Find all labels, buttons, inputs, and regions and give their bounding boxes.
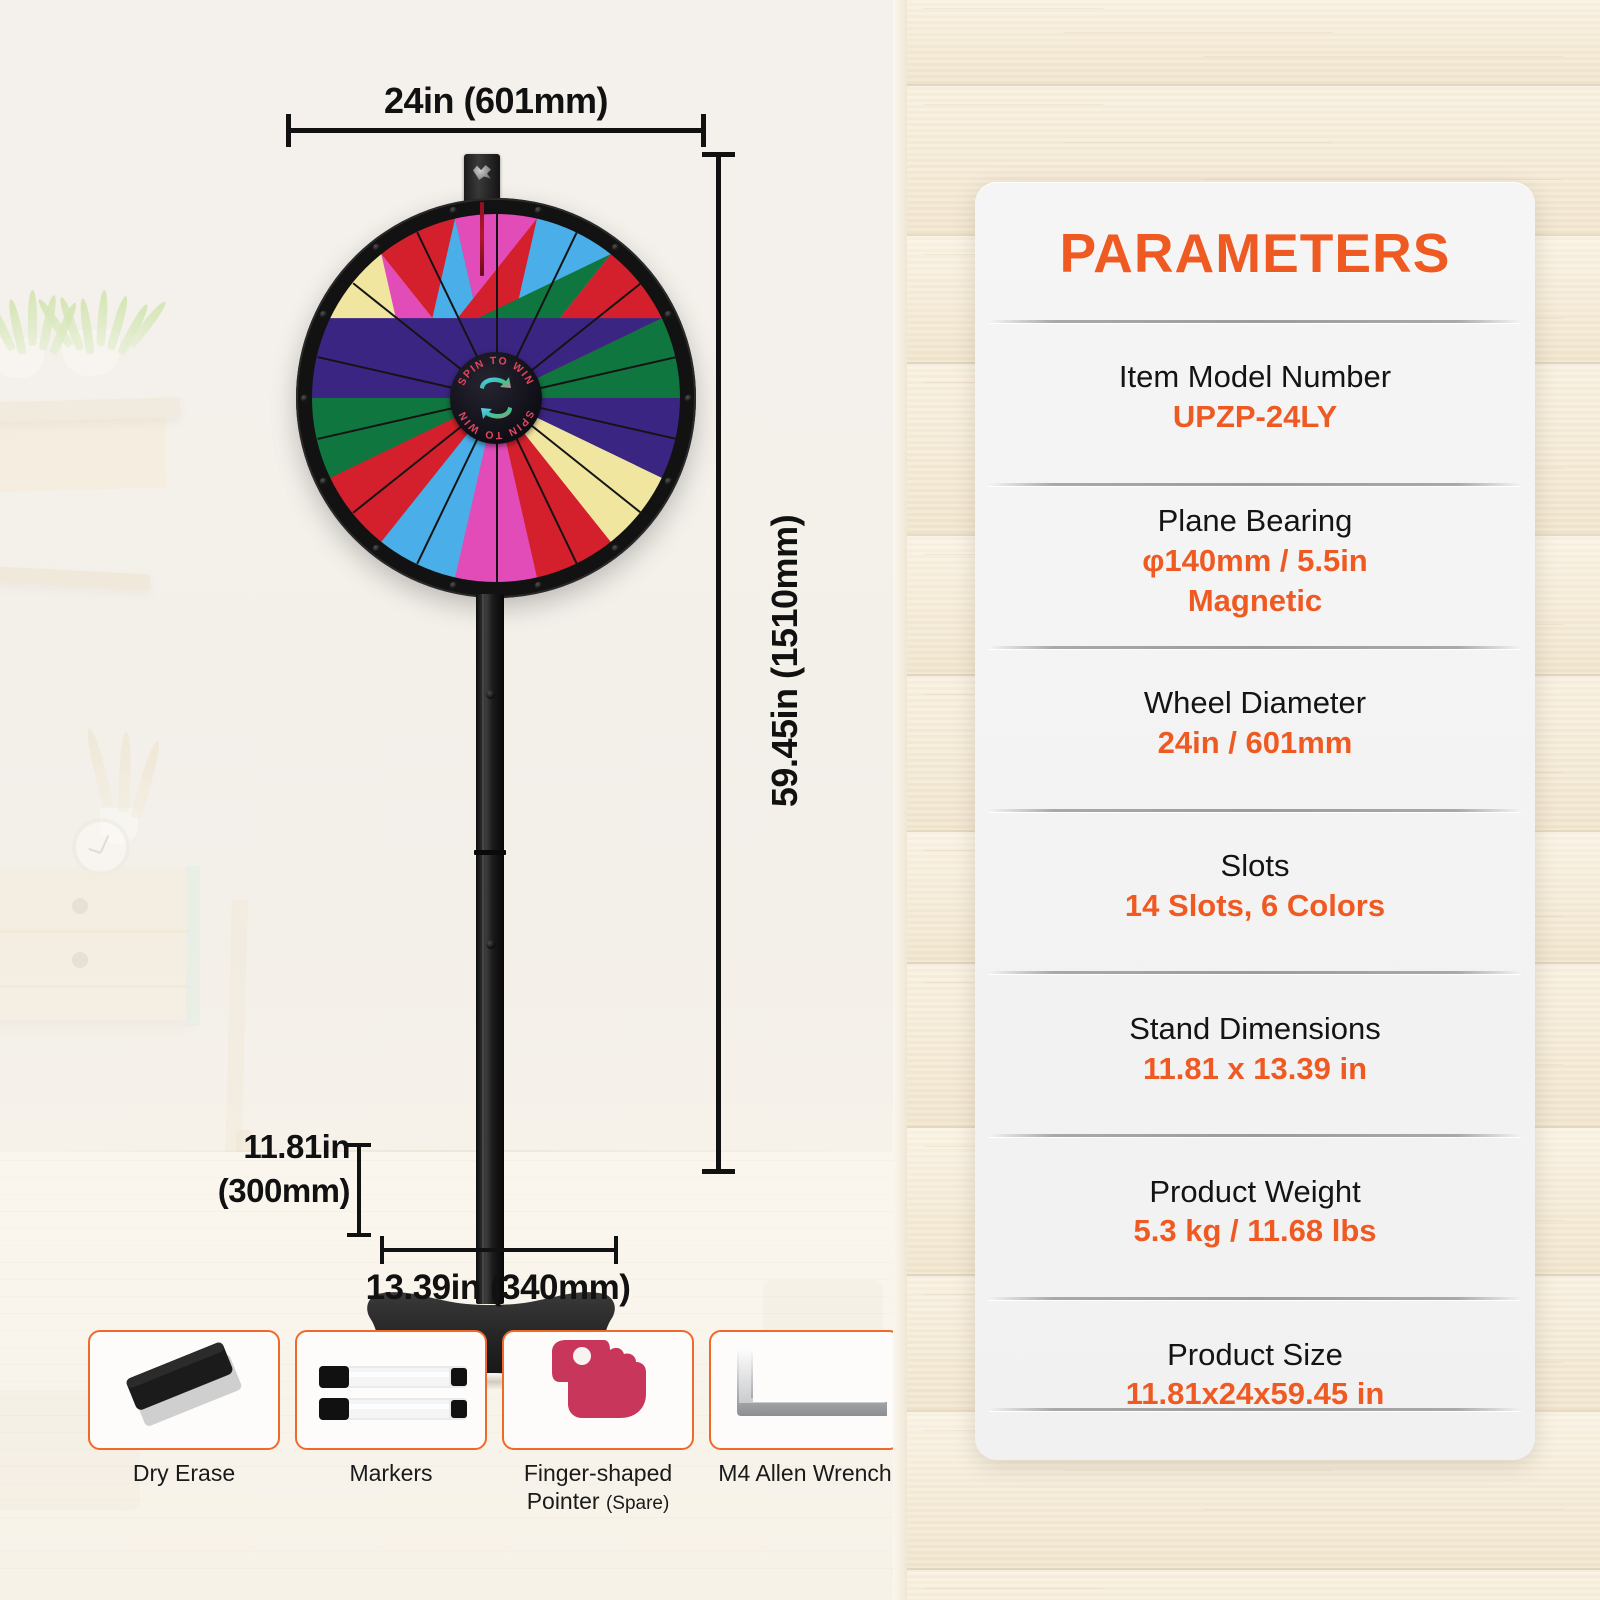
parameters-card: PARAMETERS Item Model NumberUPZP-24LYPla… [975, 182, 1535, 1460]
frame-rivet [320, 478, 327, 485]
parameter-value: 5.3 kg / 11.68 lbs [975, 1211, 1535, 1251]
frame-rivet [373, 545, 380, 552]
parameters-panel: PARAMETERS Item Model NumberUPZP-24LYPla… [893, 0, 1600, 1600]
hub-text-top: SPIN TO WIN [456, 355, 536, 388]
frame-rivet [535, 582, 542, 589]
spin-arrows-icon [480, 377, 512, 419]
parameter-value: 11.81 x 13.39 in [975, 1049, 1535, 1089]
parameter-label: Stand Dimensions [975, 1010, 1535, 1049]
dim-height-label: 59.45in (1510mm) [764, 461, 806, 861]
row-divider [989, 1297, 1521, 1300]
pole-joint [474, 850, 506, 855]
parameter-row: Wheel Diameter24in / 601mm [975, 684, 1535, 762]
drawer-cabinet [0, 870, 190, 1020]
dim-base-depth-label-2: (300mm) [175, 1172, 350, 1210]
wall-shelf-lower [0, 566, 150, 591]
dim-base-depth-tick-top [347, 1143, 371, 1147]
prize-wheel[interactable]: SPIN TO WIN SPIN TO WIN [296, 198, 696, 598]
finger-pointer-icon [502, 1330, 694, 1450]
accessory-label: Finger-shapedPointer (Spare) [502, 1459, 694, 1515]
drawer-knob-1 [72, 898, 88, 914]
drawer-divider-2 [0, 985, 190, 988]
parameters-title: PARAMETERS [975, 182, 1535, 281]
dim-base-depth-label-1: 11.81in [190, 1128, 350, 1166]
panel-left-edge [893, 0, 907, 1600]
pointer-flag-icon [480, 202, 484, 276]
wood-grain [923, 8, 1103, 9]
dim-base-depth-tick-bottom [347, 1233, 371, 1237]
frame-rivet [301, 395, 308, 402]
parameter-row: Plane Bearingφ140mm / 5.5inMagnetic [975, 502, 1535, 620]
accessory-item: Dry Erase [88, 1330, 280, 1487]
pampas-stem [118, 732, 132, 812]
parameter-row: Slots14 Slots, 6 Colors [975, 847, 1535, 925]
parameter-label: Wheel Diameter [975, 684, 1535, 723]
parameter-row: Item Model NumberUPZP-24LY [975, 358, 1535, 436]
parameter-label: Plane Bearing [975, 502, 1535, 541]
dim-width-top-label: 24in (601mm) [286, 80, 706, 122]
accessory-item: Markers [295, 1330, 487, 1487]
row-divider [989, 646, 1521, 649]
pole-seam [482, 594, 484, 1304]
row-divider [989, 320, 1521, 323]
wood-grain [1063, 1470, 1333, 1471]
hub-text-bottom: SPIN TO WIN [456, 408, 536, 441]
wood-plank [893, 0, 1600, 86]
wood-grain [1203, 1509, 1563, 1510]
drawer-knob-2 [72, 952, 88, 968]
wood-grain [1063, 142, 1333, 143]
parameter-row: Product Size11.81x24x59.45 in [975, 1336, 1535, 1414]
dim-width-top-tick-left [286, 114, 291, 147]
dim-base-width-label: 13.39in (340mm) [328, 1268, 668, 1308]
dim-height-tick-top [702, 152, 735, 157]
wall-shelf-box [0, 418, 166, 493]
wood-grain [923, 1588, 1103, 1589]
row-divider [989, 483, 1521, 486]
accessory-label-line2: Pointer [527, 1488, 606, 1514]
floor-grain [0, 1568, 893, 1569]
frame-rivet [612, 545, 619, 552]
parameter-value: UPZP-24LY [975, 397, 1535, 437]
pampas-stem [84, 727, 114, 807]
wood-grain [1203, 179, 1563, 180]
wheel-hub: SPIN TO WIN SPIN TO WIN [450, 352, 542, 444]
accessory-item: Finger-shapedPointer (Spare) [502, 1330, 694, 1515]
pole-screw-lower [486, 940, 495, 949]
dry-erase-eraser-icon [88, 1330, 280, 1450]
parameter-value: 14 Slots, 6 Colors [975, 886, 1535, 926]
allen-wrench-icon [709, 1330, 893, 1450]
dim-width-top-tick-right [701, 114, 706, 147]
parameter-value: 24in / 601mm [975, 723, 1535, 763]
dim-base-width-tick-right [614, 1236, 618, 1264]
accessory-label: Markers [295, 1459, 487, 1487]
parameter-label: Item Model Number [975, 358, 1535, 397]
row-divider [989, 809, 1521, 812]
wood-plank [893, 1570, 1600, 1600]
accessory-label: M4 Allen Wrench [709, 1459, 893, 1487]
dim-base-width-line [380, 1248, 618, 1252]
row-divider [989, 1408, 1521, 1411]
floor-grain [0, 1585, 893, 1586]
product-scene-panel: SPIN TO WIN SPIN TO WIN [0, 0, 893, 1600]
drawer-divider-1 [0, 930, 190, 933]
prize-wheel-assembly: SPIN TO WIN SPIN TO WIN [286, 150, 706, 1270]
plant-leaf [28, 290, 37, 346]
frame-rivet [685, 395, 692, 402]
accessory-label-note: (Spare) [606, 1493, 669, 1514]
wood-grain [1063, 32, 1333, 33]
accessory-label: Dry Erase [88, 1459, 280, 1487]
parameter-label: Slots [975, 847, 1535, 886]
pampas-stem [130, 740, 163, 820]
infographic-stage: SPIN TO WIN SPIN TO WIN [0, 0, 1600, 1600]
parameter-value-secondary: Magnetic [975, 581, 1535, 621]
wood-grain [923, 104, 1103, 105]
accessories-row: Dry EraseMarkersFinger-shapedPointer (Sp… [88, 1330, 893, 1560]
dim-base-width-tick-left [380, 1236, 384, 1264]
accessory-label-line1: Finger-shaped [524, 1460, 672, 1486]
frame-rivet [450, 582, 457, 589]
parameter-label: Product Size [975, 1336, 1535, 1375]
telescoping-pole [476, 594, 504, 1304]
row-divider [989, 1134, 1521, 1137]
row-divider [989, 971, 1521, 974]
dim-height-line [716, 152, 721, 1174]
parameter-value: φ140mm / 5.5in [975, 541, 1535, 581]
parameter-row: Product Weight5.3 kg / 11.68 lbs [975, 1173, 1535, 1251]
cabinet-side-panel [186, 866, 200, 1026]
frame-rivet [320, 311, 327, 318]
accessory-item: M4 Allen Wrench [709, 1330, 893, 1487]
parameter-label: Product Weight [975, 1173, 1535, 1212]
pole-screw-upper [486, 690, 495, 699]
wood-grain [1203, 56, 1563, 57]
dim-width-top-line [286, 128, 706, 133]
dim-base-depth-line [357, 1143, 361, 1237]
markers-icon [295, 1330, 487, 1450]
dim-height-tick-bottom [702, 1169, 735, 1174]
parameter-row: Stand Dimensions11.81 x 13.39 in [975, 1010, 1535, 1088]
